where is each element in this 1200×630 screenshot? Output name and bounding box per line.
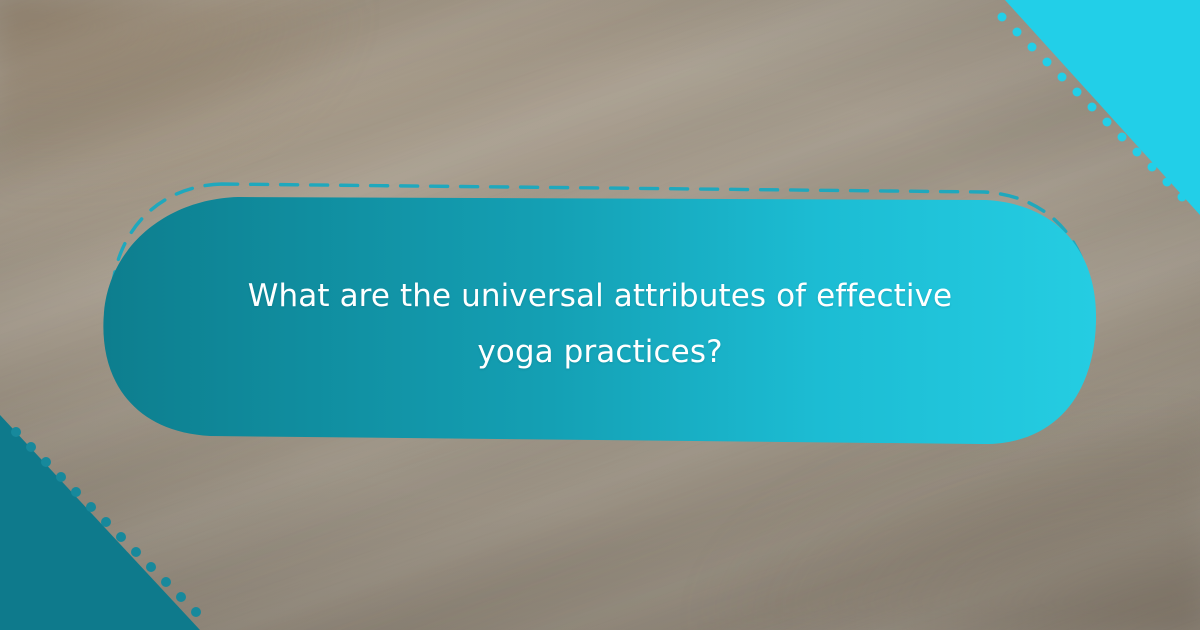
headline-text: What are the universal attributes of eff…: [150, 268, 1050, 380]
share-card-canvas: What are the universal attributes of eff…: [0, 0, 1200, 630]
